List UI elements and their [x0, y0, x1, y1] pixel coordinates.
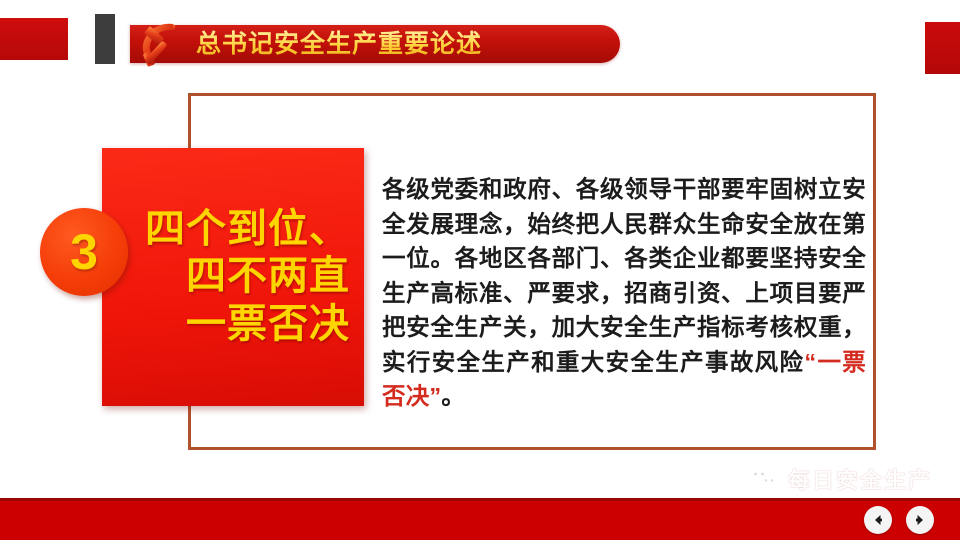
- body-paragraph-part-1: 各级党委和政府、各级领导干部要牢固树立安全发展理念，始终把人民群众生命安全放在第…: [382, 176, 866, 375]
- headline-card: 四个到位、 四不两直 一票否决: [102, 148, 364, 406]
- body-paragraph: 各级党委和政府、各级领导干部要牢固树立安全发展理念，始终把人民群众生命安全放在第…: [382, 172, 866, 414]
- slide-navigation: [864, 506, 934, 534]
- wechat-icon: [746, 464, 780, 494]
- headline-line-3: 一票否决: [186, 301, 350, 348]
- party-emblem-hammer-sickle-icon: [132, 18, 188, 70]
- prev-slide-button[interactable]: [864, 506, 892, 534]
- slide-canvas: 总书记安全生产重要论述 四个到位、 四不两直 一票否决 3 各级党委和政府、各级…: [0, 0, 960, 540]
- step-number-label: 3: [70, 227, 98, 277]
- footer-bar: [0, 498, 960, 540]
- header-gray-divider: [95, 14, 115, 64]
- headline-line-2: 四不两直: [186, 253, 350, 300]
- header-right-red-block: [925, 22, 960, 74]
- watermark: 每日安全生产: [746, 460, 932, 498]
- next-slide-button[interactable]: [906, 506, 934, 534]
- page-title: 总书记安全生产重要论述: [196, 27, 482, 61]
- arrow-left-icon: [871, 513, 885, 527]
- step-number-badge: 3: [40, 208, 128, 296]
- body-paragraph-part-2: 。: [441, 383, 465, 409]
- watermark-label: 每日安全生产: [788, 463, 932, 495]
- header-left-red-block: [0, 18, 68, 60]
- arrow-right-icon: [913, 513, 927, 527]
- headline-line-1: 四个到位、: [145, 206, 350, 253]
